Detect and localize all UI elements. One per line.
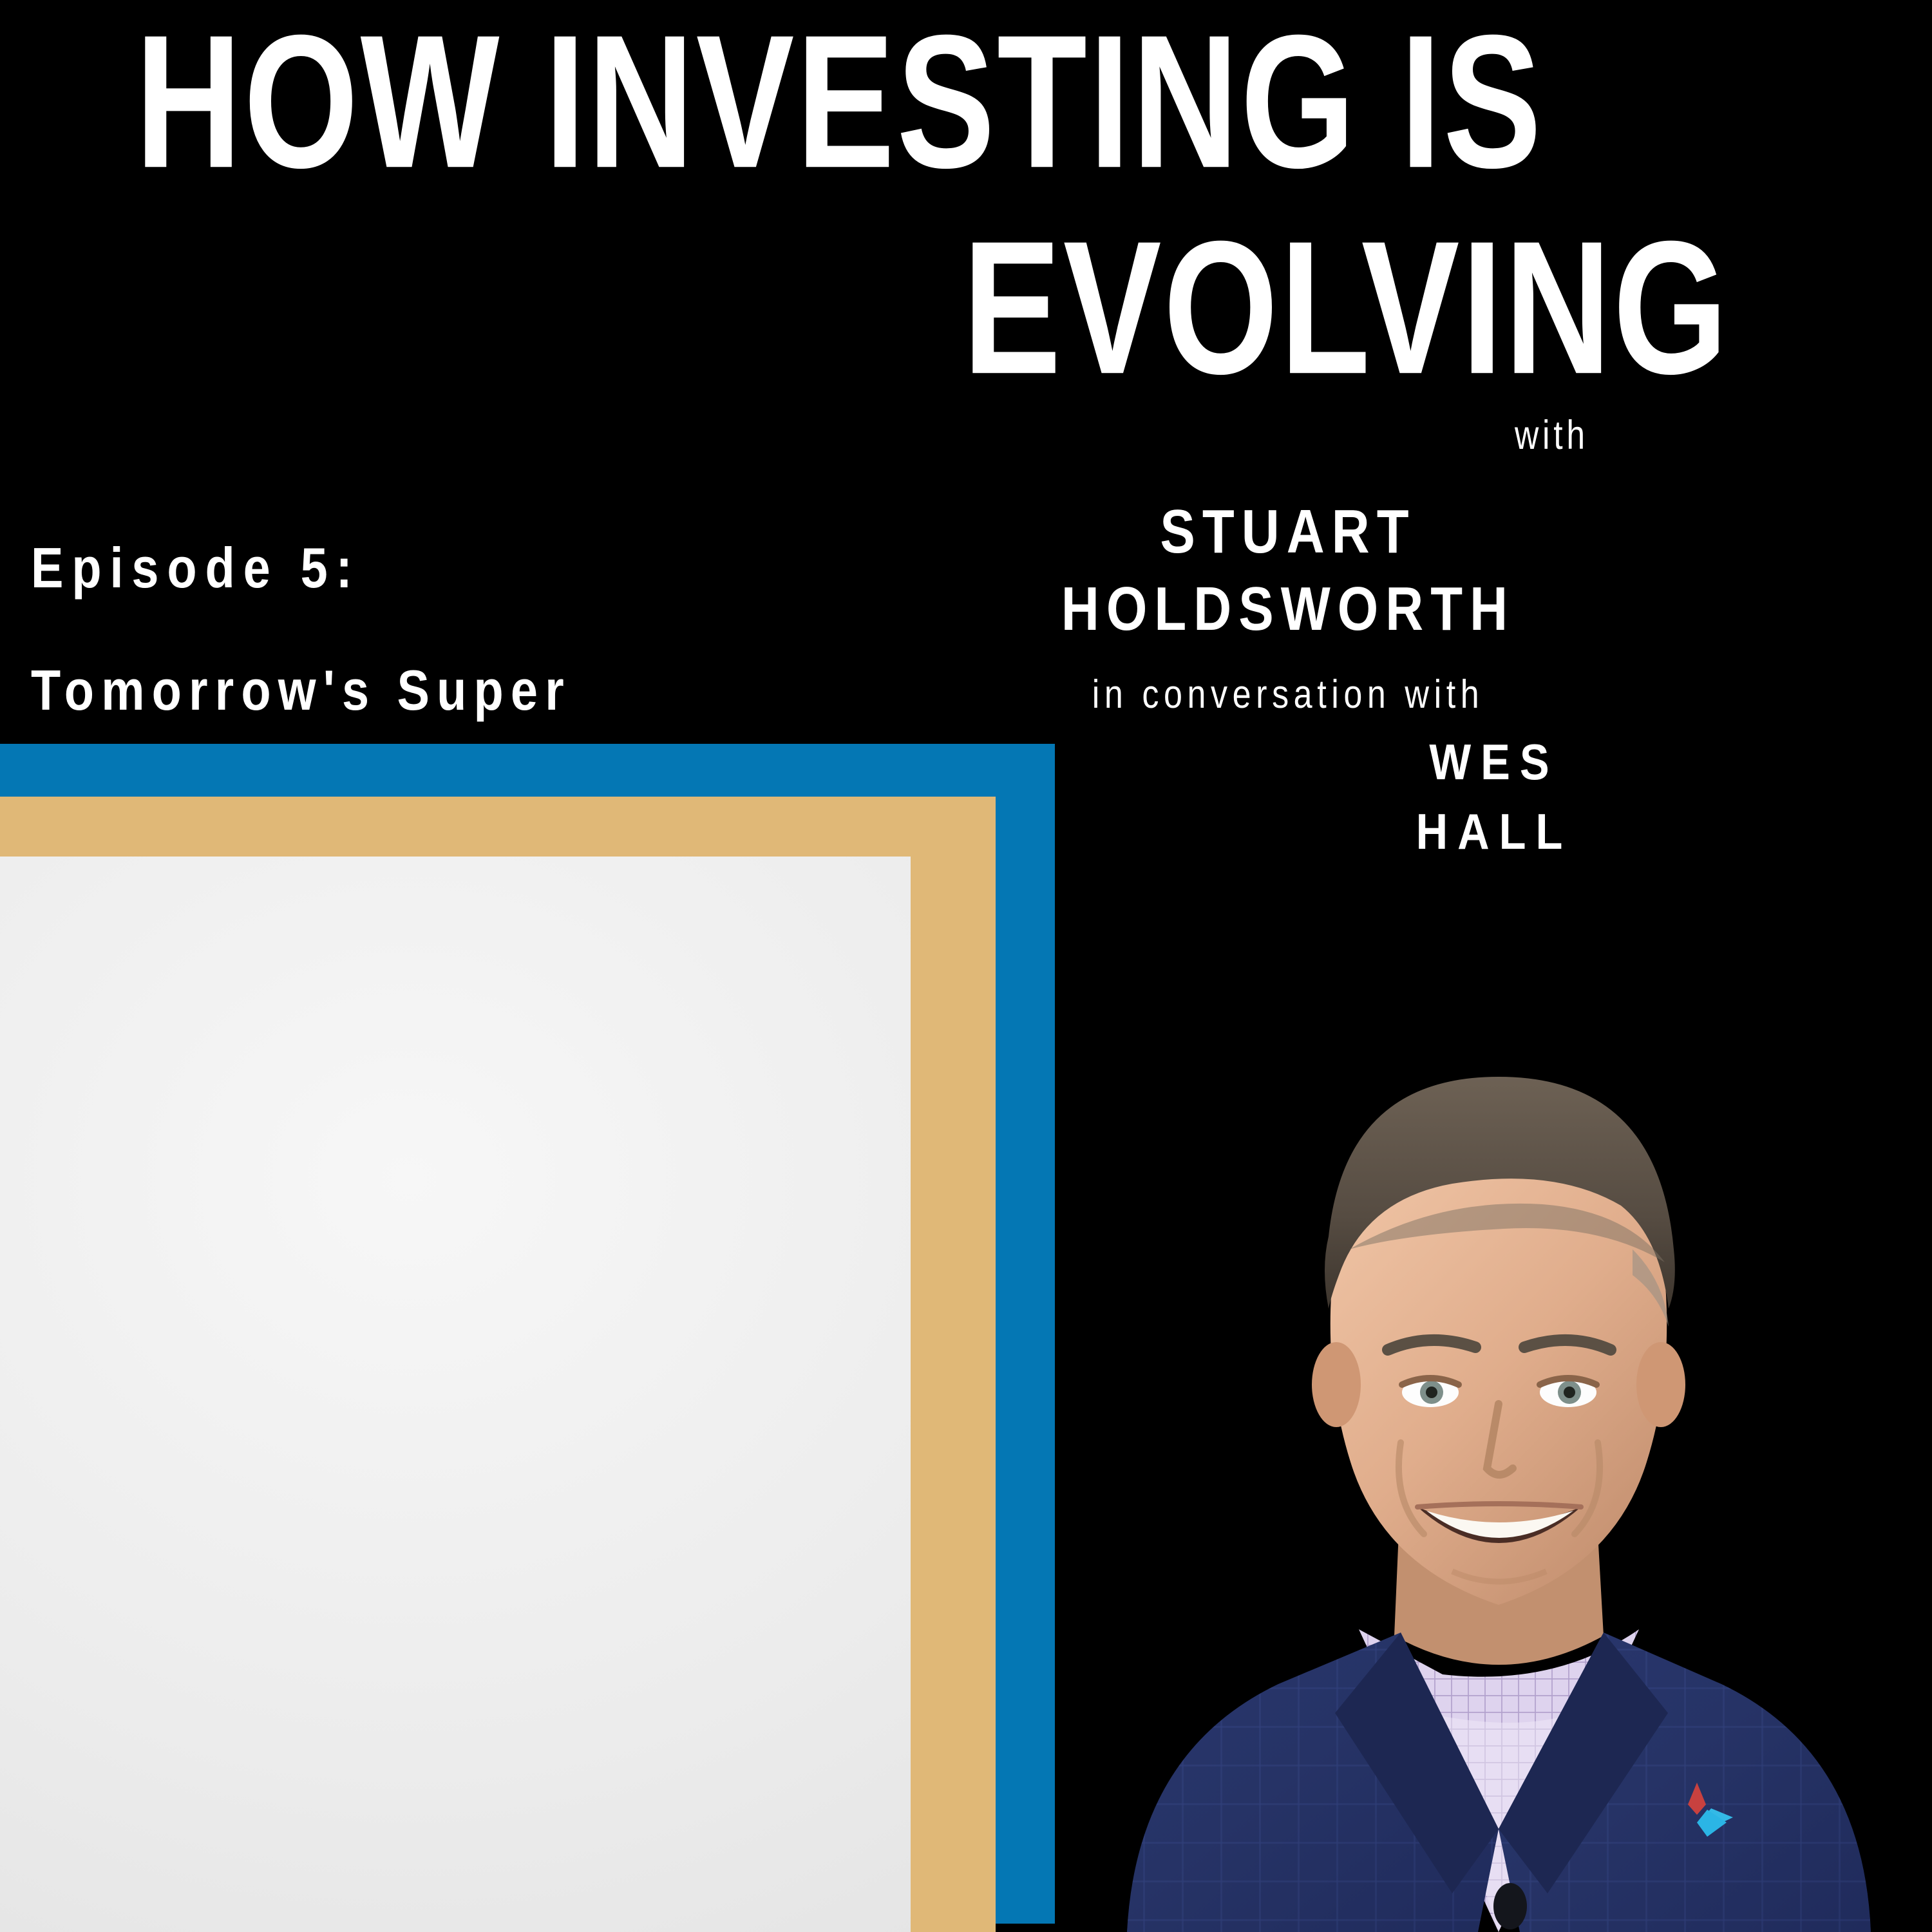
in-conversation-with-label: in conversation with xyxy=(747,672,1829,717)
podcast-title-line-1: HOW INVESTING IS xyxy=(135,6,1544,196)
podcast-title-line-2: EVOLVING xyxy=(963,213,1730,402)
guest-first-name: STUART xyxy=(741,501,1835,563)
episode-title-label: Tomorrow's Super xyxy=(31,662,571,719)
episode-number-label: Episode 5: xyxy=(31,540,361,596)
with-label: with xyxy=(1515,412,1589,459)
wes-hall-portrait xyxy=(1066,992,1932,1932)
portrait-background xyxy=(0,857,911,1932)
podcast-cover-art: HOW INVESTING IS EVOLVING with STUART HO… xyxy=(0,0,1932,1932)
host-last-name: HALL xyxy=(1154,806,1834,857)
portrait-illustration-right xyxy=(1066,992,1932,1932)
guest-last-name: HOLDSWORTH xyxy=(741,578,1835,640)
host-first-name: WES xyxy=(1154,737,1834,787)
stuart-holdsworth-portrait xyxy=(0,857,911,1932)
